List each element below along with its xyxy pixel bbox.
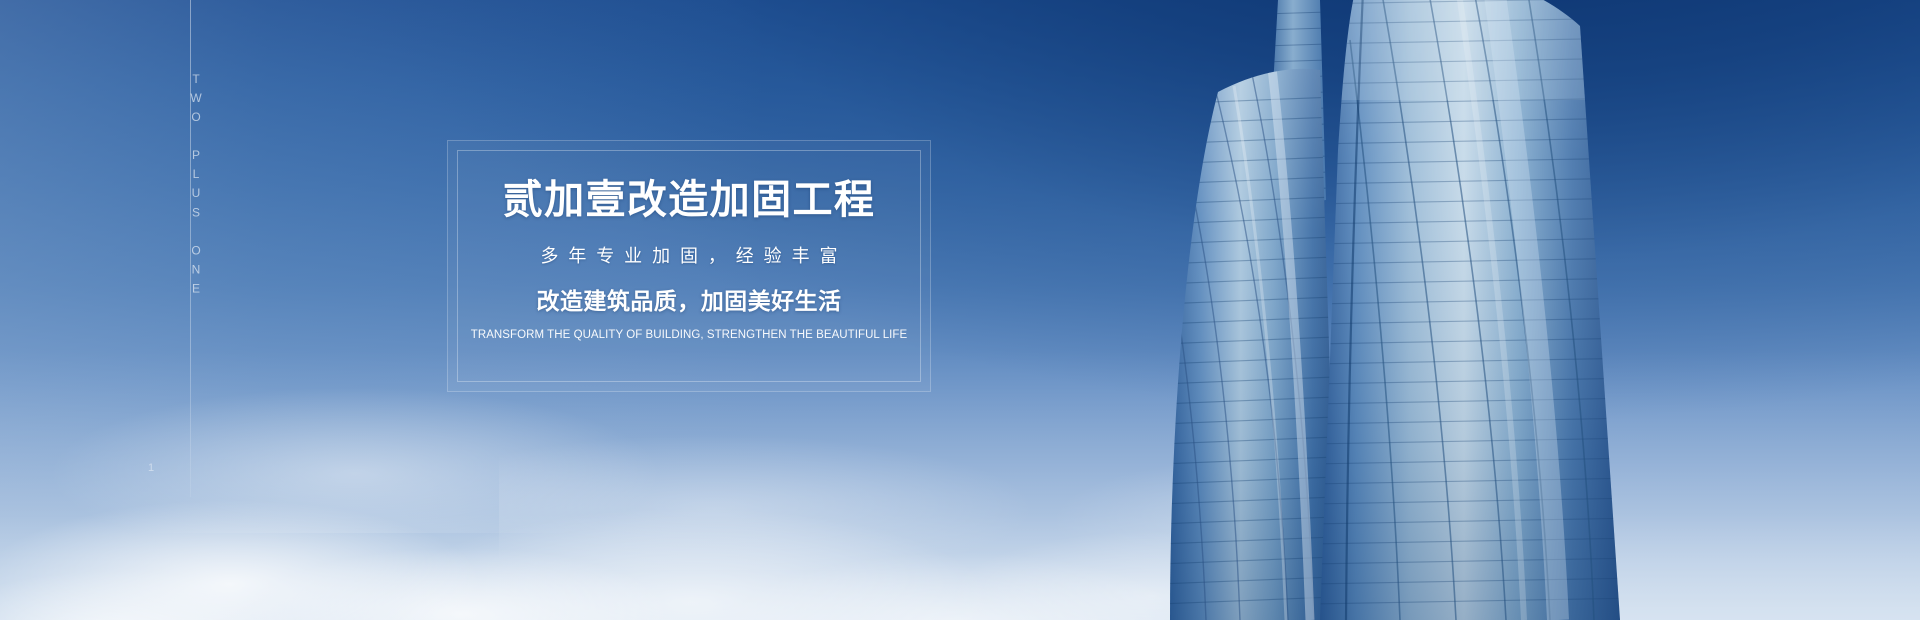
skyscraper-illustration [1020,0,1920,620]
headline-copy-block: 贰加壹改造加固工程 多年专业加固，经验丰富 改造建筑品质，加固美好生活 TRAN… [447,140,931,392]
skyscraper-group [1020,0,1920,620]
tower-right-main [1310,0,1640,620]
headline-slogan: 改造建筑品质，加固美好生活 [537,290,842,313]
hero-banner: TWO PLUS ONE 1 贰加壹改造加固工程 多年专业加固，经验丰富 改造建… [0,0,1920,620]
brand-corner-mark: 1 [145,462,157,476]
headline-english-tagline: TRANSFORM THE QUALITY OF BUILDING, STREN… [471,330,907,342]
brand-vertical-text: TWO PLUS ONE [176,72,202,300]
headline-secondary: 多年专业加固，经验丰富 [531,247,848,265]
headline-primary: 贰加壹改造加固工程 [503,180,876,220]
